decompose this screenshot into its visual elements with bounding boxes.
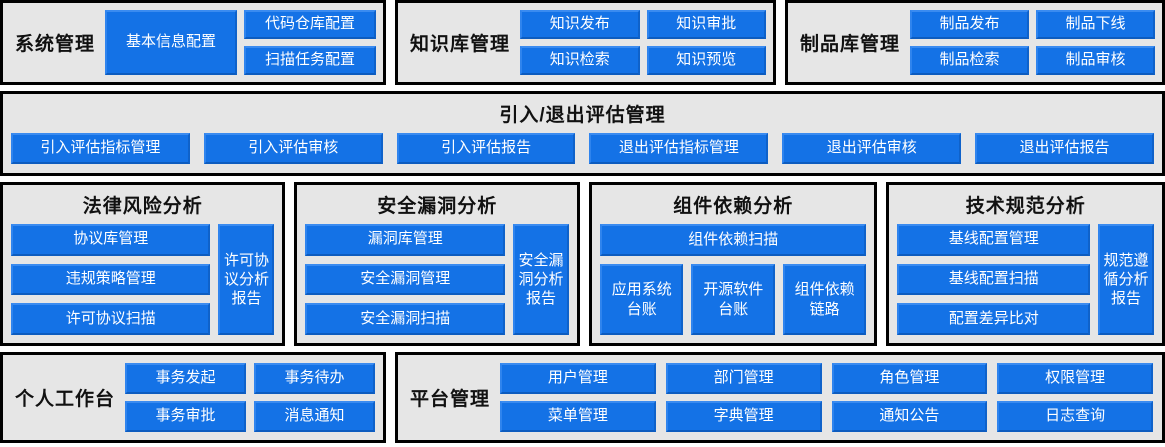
workbench-col-1: 事务发起 事务审批 <box>125 363 246 432</box>
panel-technical-standard-analysis: 技术规范分析 基线配置管理 基线配置扫描 配置差异比对 规范遵循分析报告 <box>886 182 1165 346</box>
button-message-notification[interactable]: 消息通知 <box>254 401 375 432</box>
workbench-col-2: 事务待办 消息通知 <box>254 363 375 432</box>
button-role-mgmt[interactable]: 角色管理 <box>832 363 988 394</box>
button-open-source-ledger[interactable]: 开源软件台账 <box>691 264 774 335</box>
button-log-query[interactable]: 日志查询 <box>997 401 1153 432</box>
button-artifact-publish[interactable]: 制品发布 <box>910 10 1029 39</box>
button-intro-eval-index-mgmt[interactable]: 引入评估指标管理 <box>11 133 190 164</box>
system-col-2: 代码仓库配置 扫描任务配置 <box>244 10 376 75</box>
panel-platform-management: 平台管理 用户管理 菜单管理 部门管理 字典管理 角色管理 通知公告 权限管理 … <box>395 352 1165 443</box>
button-component-dep-chain[interactable]: 组件依赖链路 <box>783 264 866 335</box>
artifact-repo-buttons: 制品发布 制品检索 制品下线 制品审核 <box>910 10 1162 75</box>
panel-security-vulnerability-analysis: 安全漏洞分析 漏洞库管理 安全漏洞管理 安全漏洞扫描 安全漏洞分析报告 <box>294 182 579 346</box>
button-security-vuln-mgmt[interactable]: 安全漏洞管理 <box>305 264 504 296</box>
legal-risk-body: 协议库管理 违规策略管理 许可协议扫描 许可协议分析报告 <box>3 224 282 343</box>
panel-title-introduce-exit-evaluation: 引入/退出评估管理 <box>3 94 1162 133</box>
button-task-todo[interactable]: 事务待办 <box>254 363 375 394</box>
personal-workbench-buttons: 事务发起 事务审批 事务待办 消息通知 <box>125 363 383 432</box>
button-artifact-offline[interactable]: 制品下线 <box>1036 10 1155 39</box>
button-license-lib-mgmt[interactable]: 协议库管理 <box>11 224 210 256</box>
evaluation-buttons: 引入评估指标管理 引入评估审核 引入评估报告 退出评估指标管理 退出评估审核 退… <box>3 133 1162 172</box>
panel-title-component-dependency-analysis: 组件依赖分析 <box>592 185 874 224</box>
knowledge-base-buttons: 知识发布 知识检索 知识审批 知识预览 <box>520 10 773 75</box>
panel-personal-workbench: 个人工作台 事务发起 事务审批 事务待办 消息通知 <box>0 352 386 443</box>
button-code-repo-config[interactable]: 代码仓库配置 <box>244 10 376 39</box>
panel-title-legal-risk-analysis: 法律风险分析 <box>3 185 282 224</box>
button-exit-eval-report[interactable]: 退出评估报告 <box>975 133 1154 164</box>
system-management-buttons: 基本信息配置 代码仓库配置 扫描任务配置 <box>105 10 383 75</box>
row-evaluation: 引入/退出评估管理 引入评估指标管理 引入评估审核 引入评估报告 退出评估指标管… <box>0 91 1165 176</box>
button-component-dep-scan[interactable]: 组件依赖扫描 <box>600 224 866 256</box>
panel-title-technical-standard-analysis: 技术规范分析 <box>889 185 1162 224</box>
panel-title-artifact-repo-management: 制品库管理 <box>788 29 910 56</box>
button-security-vuln-analysis-report[interactable]: 安全漏洞分析报告 <box>513 224 569 335</box>
button-exit-eval-index-mgmt[interactable]: 退出评估指标管理 <box>589 133 768 164</box>
button-baseline-config-mgmt[interactable]: 基线配置管理 <box>897 224 1090 256</box>
platform-col-1: 用户管理 菜单管理 <box>500 363 656 432</box>
button-notice-announcement[interactable]: 通知公告 <box>832 401 988 432</box>
button-knowledge-preview[interactable]: 知识预览 <box>647 46 767 75</box>
button-knowledge-approval[interactable]: 知识审批 <box>647 10 767 39</box>
panel-introduce-exit-evaluation: 引入/退出评估管理 引入评估指标管理 引入评估审核 引入评估报告 退出评估指标管… <box>0 91 1165 176</box>
button-exit-eval-review[interactable]: 退出评估审核 <box>782 133 961 164</box>
button-standard-compliance-report[interactable]: 规范遵循分析报告 <box>1098 224 1154 335</box>
row-top: 系统管理 基本信息配置 代码仓库配置 扫描任务配置 知识库管理 知识发布 知识检… <box>0 0 1165 85</box>
button-task-initiate[interactable]: 事务发起 <box>125 363 246 394</box>
knowledge-col-2: 知识审批 知识预览 <box>647 10 767 75</box>
row-bottom: 个人工作台 事务发起 事务审批 事务待办 消息通知 平台管理 用户管理 菜单管理 <box>0 352 1165 443</box>
button-knowledge-search[interactable]: 知识检索 <box>520 46 640 75</box>
panel-system-management: 系统管理 基本信息配置 代码仓库配置 扫描任务配置 <box>0 0 386 85</box>
panel-knowledge-base-management: 知识库管理 知识发布 知识检索 知识审批 知识预览 <box>395 0 776 85</box>
platform-col-2: 部门管理 字典管理 <box>666 363 822 432</box>
technical-standard-buttons: 基线配置管理 基线配置扫描 配置差异比对 <box>897 224 1090 335</box>
component-dep-body: 组件依赖扫描 应用系统台账 开源软件台账 组件依赖链路 <box>592 224 874 343</box>
panel-title-personal-workbench: 个人工作台 <box>3 384 125 411</box>
button-config-diff-compare[interactable]: 配置差异比对 <box>897 303 1090 335</box>
button-department-mgmt[interactable]: 部门管理 <box>666 363 822 394</box>
legal-risk-report-wrap: 许可协议分析报告 <box>218 224 274 335</box>
security-vuln-report-wrap: 安全漏洞分析报告 <box>513 224 569 335</box>
platform-col-4: 权限管理 日志查询 <box>997 363 1153 432</box>
button-security-vuln-scan[interactable]: 安全漏洞扫描 <box>305 303 504 335</box>
button-permission-mgmt[interactable]: 权限管理 <box>997 363 1153 394</box>
button-knowledge-publish[interactable]: 知识发布 <box>520 10 640 39</box>
artifact-col-2: 制品下线 制品审核 <box>1036 10 1155 75</box>
button-menu-mgmt[interactable]: 菜单管理 <box>500 401 656 432</box>
button-basic-info-config[interactable]: 基本信息配置 <box>105 10 237 75</box>
button-license-agreement-scan[interactable]: 许可协议扫描 <box>11 303 210 335</box>
button-intro-eval-review[interactable]: 引入评估审核 <box>204 133 383 164</box>
technical-standard-report-wrap: 规范遵循分析报告 <box>1098 224 1154 335</box>
button-violation-policy-mgmt[interactable]: 违规策略管理 <box>11 264 210 296</box>
panel-component-dependency-analysis: 组件依赖分析 组件依赖扫描 应用系统台账 开源软件台账 组件依赖链路 <box>589 182 877 346</box>
button-vuln-lib-mgmt[interactable]: 漏洞库管理 <box>305 224 504 256</box>
panel-title-platform-management: 平台管理 <box>398 384 500 411</box>
component-dep-sub-row: 应用系统台账 开源软件台账 组件依赖链路 <box>600 264 866 335</box>
panel-title-system-management: 系统管理 <box>3 29 105 56</box>
security-vuln-buttons: 漏洞库管理 安全漏洞管理 安全漏洞扫描 <box>305 224 504 335</box>
platform-col-3: 角色管理 通知公告 <box>832 363 988 432</box>
button-task-approval[interactable]: 事务审批 <box>125 401 246 432</box>
component-dep-buttons: 组件依赖扫描 应用系统台账 开源软件台账 组件依赖链路 <box>600 224 866 335</box>
button-dictionary-mgmt[interactable]: 字典管理 <box>666 401 822 432</box>
panel-title-security-vulnerability-analysis: 安全漏洞分析 <box>297 185 576 224</box>
button-user-mgmt[interactable]: 用户管理 <box>500 363 656 394</box>
row-analysis: 法律风险分析 协议库管理 违规策略管理 许可协议扫描 许可协议分析报告 安全漏洞… <box>0 182 1165 346</box>
technical-standard-body: 基线配置管理 基线配置扫描 配置差异比对 规范遵循分析报告 <box>889 224 1162 343</box>
system-col-1: 基本信息配置 <box>105 10 237 75</box>
legal-risk-buttons: 协议库管理 违规策略管理 许可协议扫描 <box>11 224 210 335</box>
button-artifact-review[interactable]: 制品审核 <box>1036 46 1155 75</box>
panel-legal-risk-analysis: 法律风险分析 协议库管理 违规策略管理 许可协议扫描 许可协议分析报告 <box>0 182 285 346</box>
panel-title-knowledge-base-management: 知识库管理 <box>398 29 520 56</box>
button-artifact-search[interactable]: 制品检索 <box>910 46 1029 75</box>
platform-management-buttons: 用户管理 菜单管理 部门管理 字典管理 角色管理 通知公告 权限管理 日志查询 <box>500 363 1162 432</box>
button-scan-task-config[interactable]: 扫描任务配置 <box>244 46 376 75</box>
knowledge-col-1: 知识发布 知识检索 <box>520 10 640 75</box>
artifact-col-1: 制品发布 制品检索 <box>910 10 1029 75</box>
button-intro-eval-report[interactable]: 引入评估报告 <box>397 133 576 164</box>
panel-artifact-repo-management: 制品库管理 制品发布 制品检索 制品下线 制品审核 <box>785 0 1165 85</box>
component-dep-scan-row: 组件依赖扫描 <box>600 224 866 256</box>
module-map-board: 系统管理 基本信息配置 代码仓库配置 扫描任务配置 知识库管理 知识发布 知识检… <box>0 0 1165 447</box>
button-license-analysis-report[interactable]: 许可协议分析报告 <box>218 224 274 335</box>
button-baseline-config-scan[interactable]: 基线配置扫描 <box>897 264 1090 296</box>
button-app-system-ledger[interactable]: 应用系统台账 <box>600 264 683 335</box>
security-vuln-body: 漏洞库管理 安全漏洞管理 安全漏洞扫描 安全漏洞分析报告 <box>297 224 576 343</box>
